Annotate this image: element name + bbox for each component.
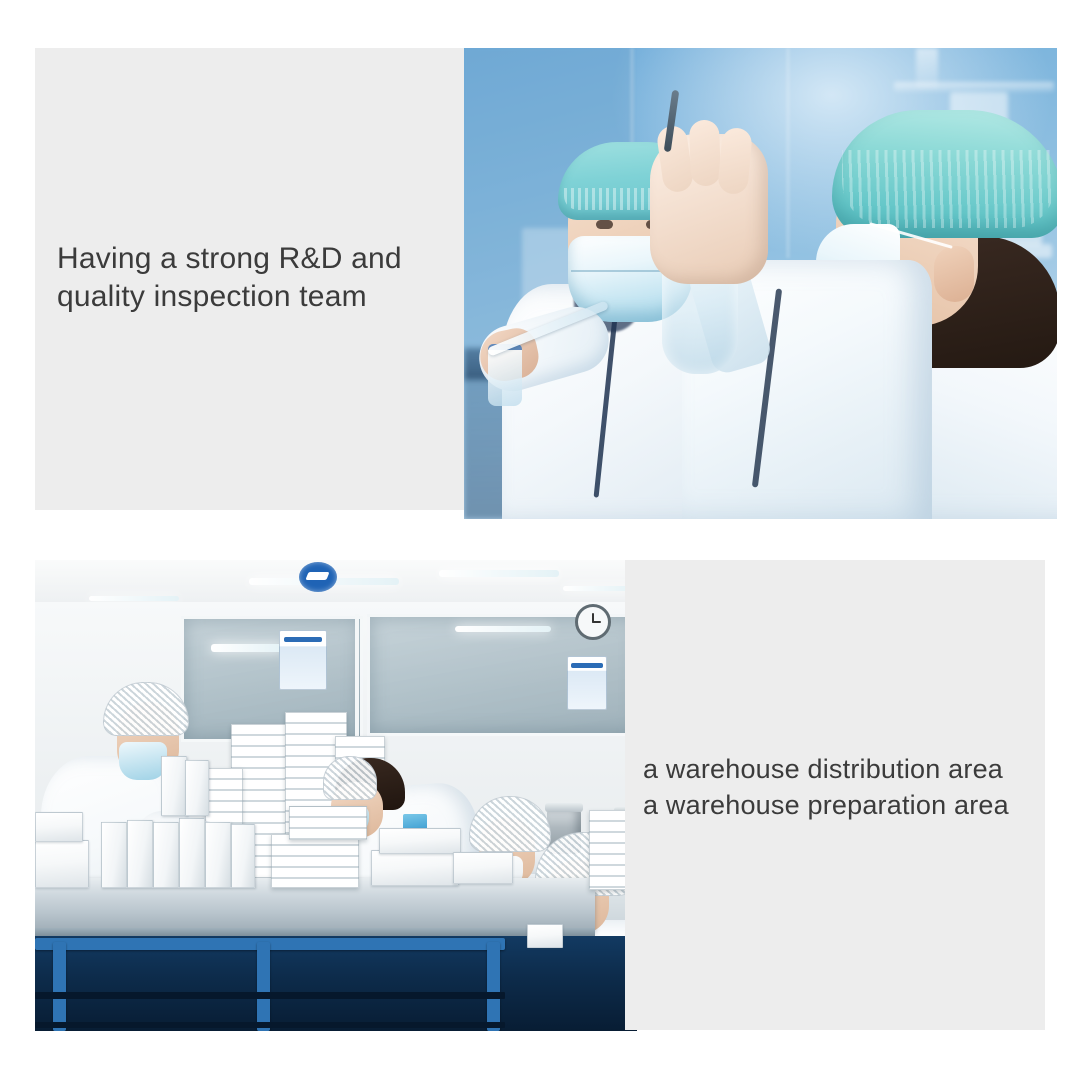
caption-rd-quality: Having a strong R&D and quality inspecti… — [57, 240, 457, 316]
worker-2-hairnet — [323, 756, 377, 800]
carton-a3 — [153, 822, 179, 888]
table-leg-c — [487, 942, 500, 1031]
warehouse-packing-photo — [35, 560, 637, 1031]
carton-a2 — [127, 820, 153, 888]
carton-flat-c — [453, 852, 513, 884]
window-light-reflection — [211, 644, 283, 652]
wall-sign-header-bar — [284, 637, 323, 642]
box-stack-table-a — [271, 834, 359, 888]
lab-wall-seam-2 — [786, 48, 790, 258]
worker-1-mask — [119, 742, 167, 780]
table-under-shadow — [35, 936, 637, 1031]
caption-warehouse-areas: a warehouse distribution area a warehous… — [643, 752, 1053, 823]
window-light-reflection-2 — [455, 626, 551, 632]
carton-upright-a — [161, 756, 187, 816]
table-rail-top — [35, 938, 505, 950]
carton-small-hand — [527, 924, 563, 948]
table-rail-low — [35, 1022, 505, 1028]
company-logo-icon — [299, 562, 337, 592]
wall-sign-left — [279, 630, 327, 690]
lab-shelf-post — [916, 48, 938, 88]
carton-flat-a — [371, 850, 459, 886]
technician-right-hairnet — [832, 110, 1057, 238]
carton-a1 — [101, 822, 127, 888]
carton-a6 — [231, 824, 255, 888]
wall-sign-header-bar-2 — [571, 663, 603, 668]
technician-left-eye-l — [596, 220, 613, 229]
wall-sign-right — [567, 656, 607, 710]
table-leg-b — [257, 942, 270, 1031]
technician-right-ear — [934, 246, 974, 302]
ceiling-light-b — [439, 570, 559, 577]
carton-edge-left-2 — [35, 812, 83, 842]
foreground-finger-b — [689, 119, 721, 186]
wall-clock-icon — [575, 604, 611, 640]
box-stack-table-b — [289, 806, 367, 840]
carton-upright-b — [185, 760, 209, 816]
lab-quality-inspection-photo — [464, 48, 1057, 519]
ceiling-light-c — [89, 596, 179, 601]
carton-a4 — [179, 818, 205, 888]
window-mullion — [355, 614, 359, 736]
collage-page: Having a strong R&D and quality inspecti… — [0, 0, 1080, 1080]
carton-edge-left — [35, 840, 89, 888]
table-rail-mid — [35, 992, 505, 999]
ceiling-light-d — [563, 586, 633, 591]
carton-a5 — [205, 822, 231, 888]
carton-flat-b — [379, 828, 461, 854]
table-leg-a — [53, 942, 66, 1031]
